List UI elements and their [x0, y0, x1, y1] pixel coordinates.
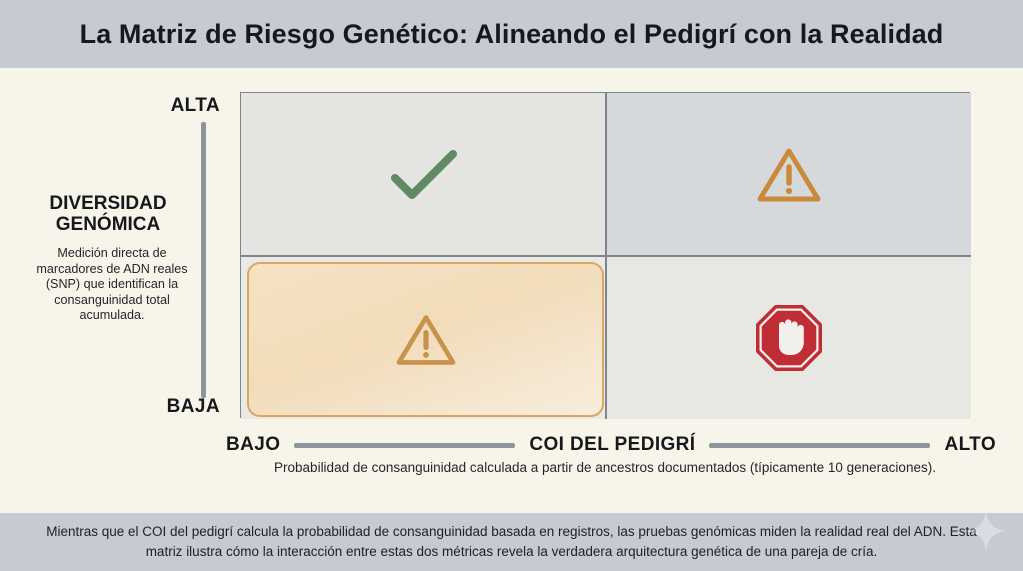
quadrant-top-left[interactable]: [241, 93, 606, 256]
quadrant-bottom-right[interactable]: [606, 256, 971, 419]
x-axis-high-label: ALTO: [944, 434, 996, 456]
y-axis-title-line1: DIVERSIDAD: [49, 193, 166, 214]
x-axis-description: Probabilidad de consanguinidad calculada…: [240, 459, 970, 477]
y-axis-title-line2: GENÓMICA: [56, 214, 161, 235]
warning-triangle-icon: [395, 312, 457, 368]
check-icon: [387, 146, 461, 204]
x-axis: BAJO COI DEL PEDIGRÍ ALTO: [226, 432, 996, 458]
matrix-horizontal-divider: [241, 255, 971, 257]
risk-matrix: [240, 92, 970, 418]
footer-caption: Mientras que el COI del pedigrí calcula …: [29, 522, 994, 561]
footer-band: Mientras que el COI del pedigrí calcula …: [0, 513, 1023, 571]
slide-root: La Matriz de Riesgo Genético: Alineando …: [0, 0, 1023, 571]
header-band: La Matriz de Riesgo Genético: Alineando …: [0, 0, 1023, 68]
x-axis-rule-left: [294, 443, 515, 448]
page-title: La Matriz de Riesgo Genético: Alineando …: [80, 19, 944, 50]
x-axis-rule-right: [709, 443, 930, 448]
y-axis-description: Medición directa de marcadores de ADN re…: [28, 246, 196, 324]
y-axis-title: DIVERSIDAD GENÓMICA: [20, 193, 196, 236]
x-axis-low-label: BAJO: [226, 434, 280, 456]
quadrant-top-right[interactable]: [606, 93, 971, 256]
stop-hand-icon: [753, 302, 825, 374]
highlighted-quadrant-bottom-left[interactable]: [247, 262, 604, 417]
y-axis-line: [201, 122, 206, 398]
x-axis-title: COI DEL PEDIGRÍ: [529, 434, 695, 456]
y-axis-low-label: BAJA: [100, 396, 220, 418]
warning-triangle-icon: [756, 145, 822, 205]
y-axis-high-label: ALTA: [100, 95, 220, 117]
